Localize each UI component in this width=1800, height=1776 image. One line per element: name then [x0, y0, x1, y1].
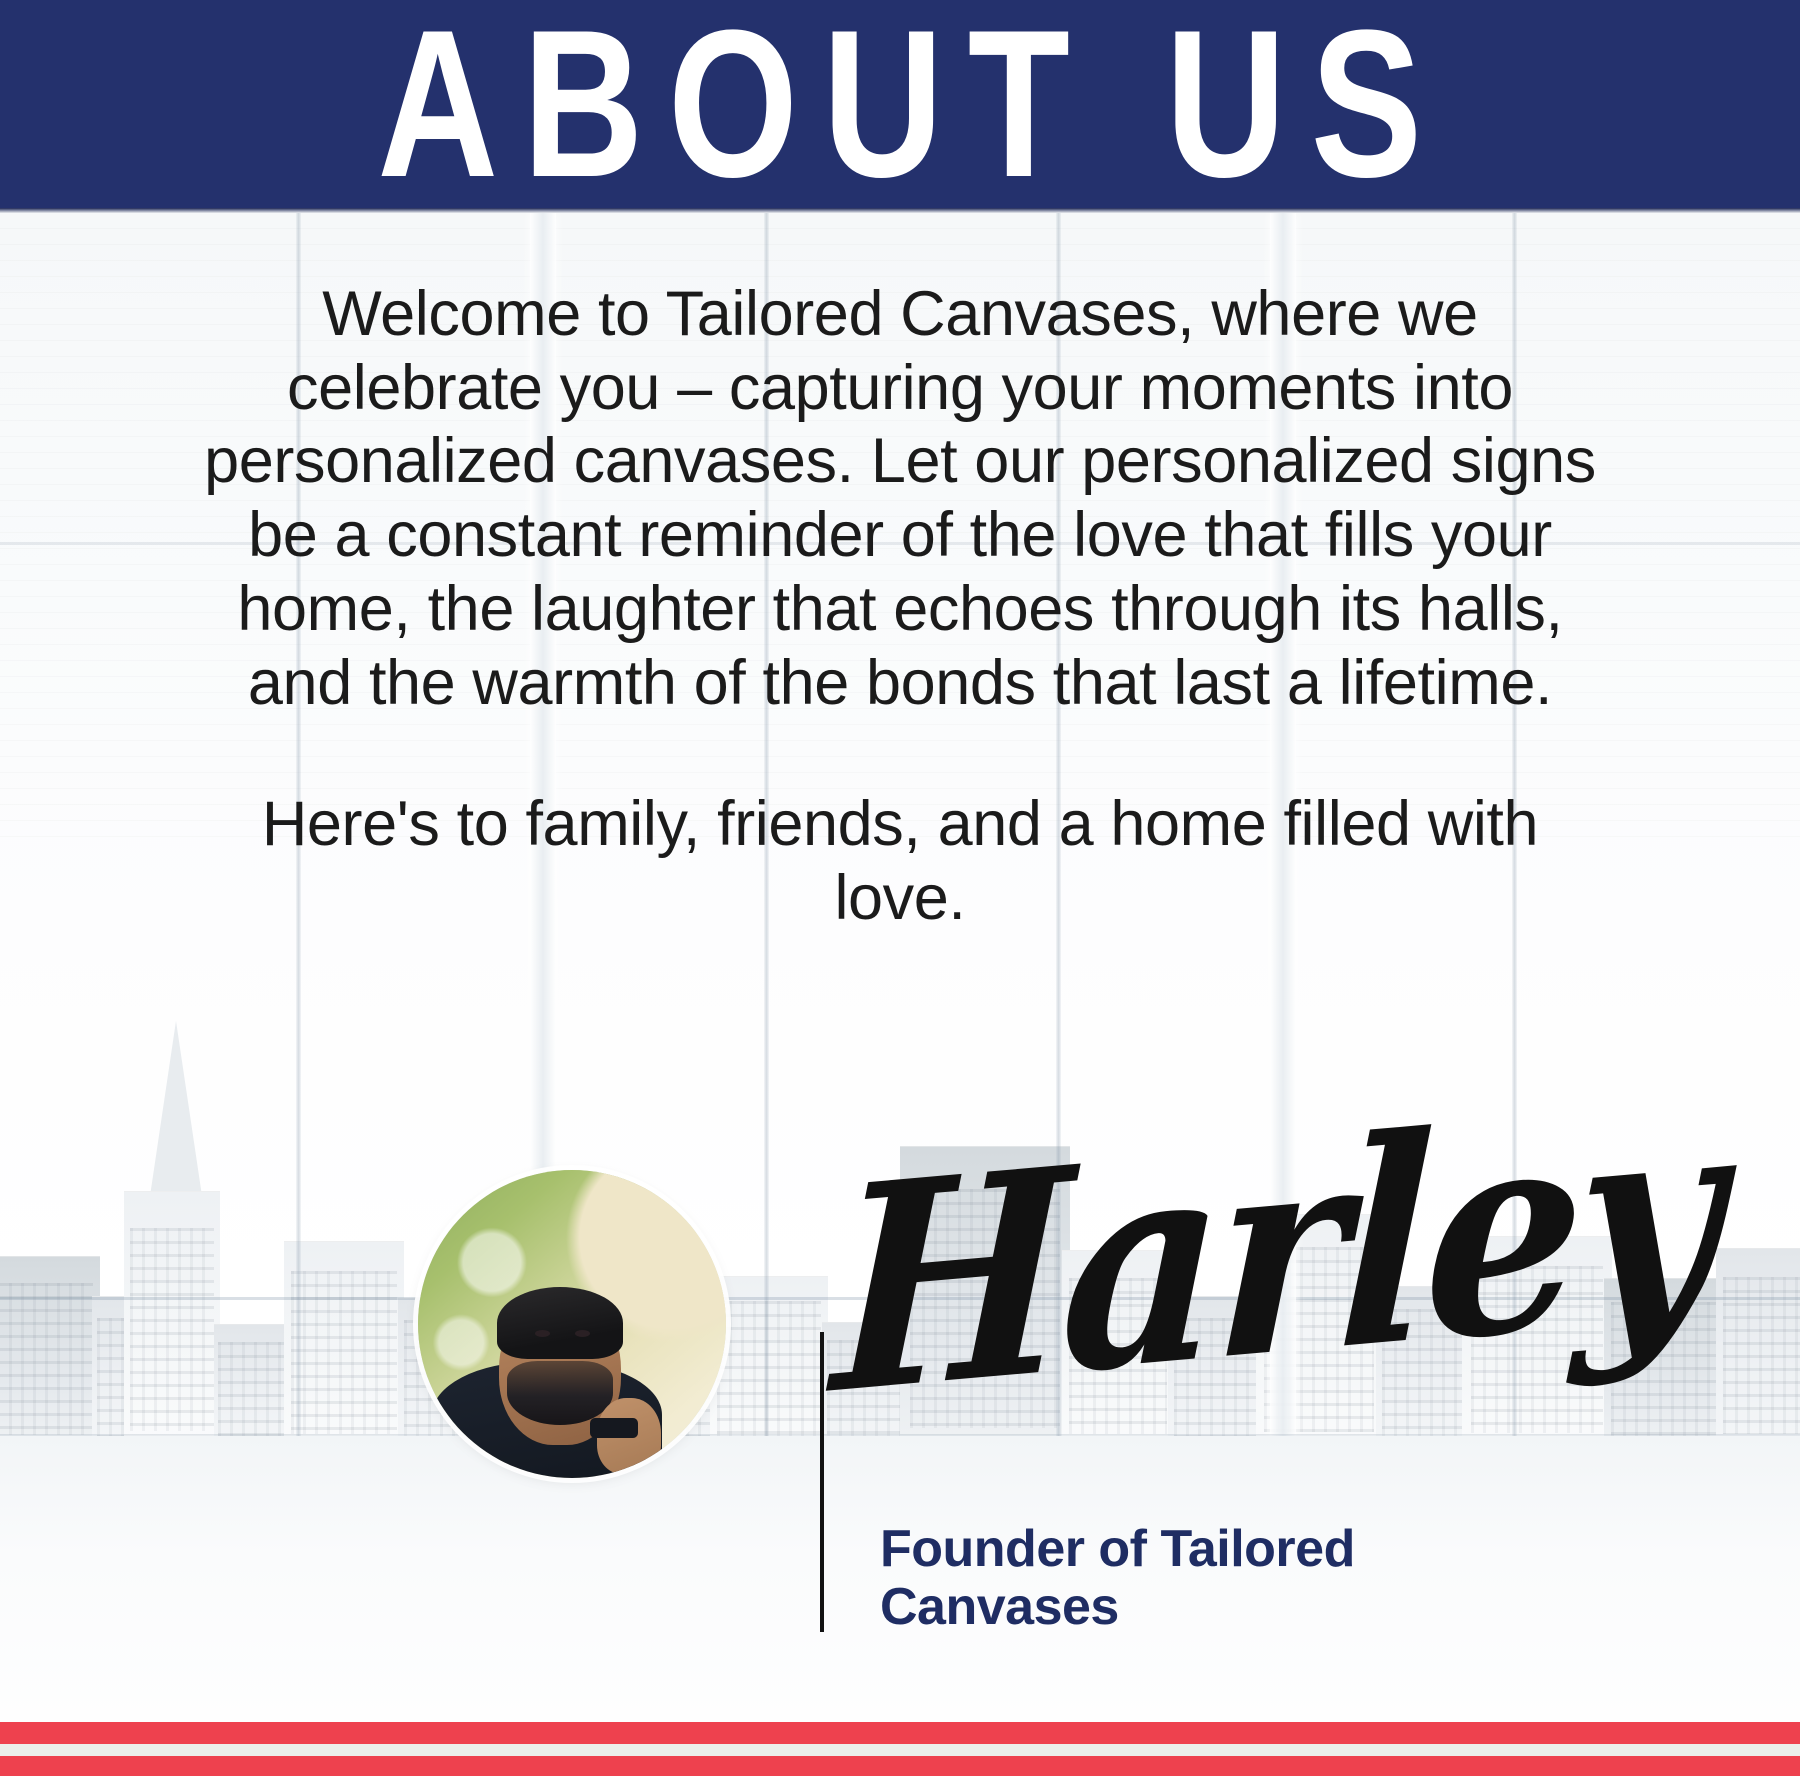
footer-stripe-bottom	[0, 1756, 1800, 1776]
signature-script: Harley	[827, 1084, 1597, 1522]
signature-divider	[820, 1332, 824, 1632]
founder-signature-block: Harley Founder of Tailored Canvases	[0, 1140, 1800, 1700]
footer-stripe-top	[0, 1722, 1800, 1744]
header-underline	[0, 208, 1800, 213]
body-paragraph-2: Here's to family, friends, and a home fi…	[190, 788, 1610, 935]
footer-stripe-gap	[0, 1744, 1800, 1756]
about-us-header: ABOUT US	[0, 0, 1800, 208]
avatar-beard	[507, 1361, 613, 1425]
page-title: ABOUT US	[353, 0, 1447, 209]
founder-role-line-1: Founder of Tailored	[880, 1520, 1500, 1578]
founder-role-line-2: Canvases	[880, 1578, 1500, 1636]
avatar-wristwatch	[590, 1418, 638, 1438]
avatar	[418, 1170, 726, 1478]
avatar-hair	[497, 1287, 623, 1359]
body-paragraph-1: Welcome to Tailored Canvases, where we c…	[190, 278, 1610, 720]
founder-role: Founder of Tailored Canvases	[880, 1520, 1500, 1636]
about-us-body: Welcome to Tailored Canvases, where we c…	[190, 278, 1610, 936]
about-us-card: ABOUT US Welcome to Tailored Canvases, w…	[0, 0, 1800, 1776]
